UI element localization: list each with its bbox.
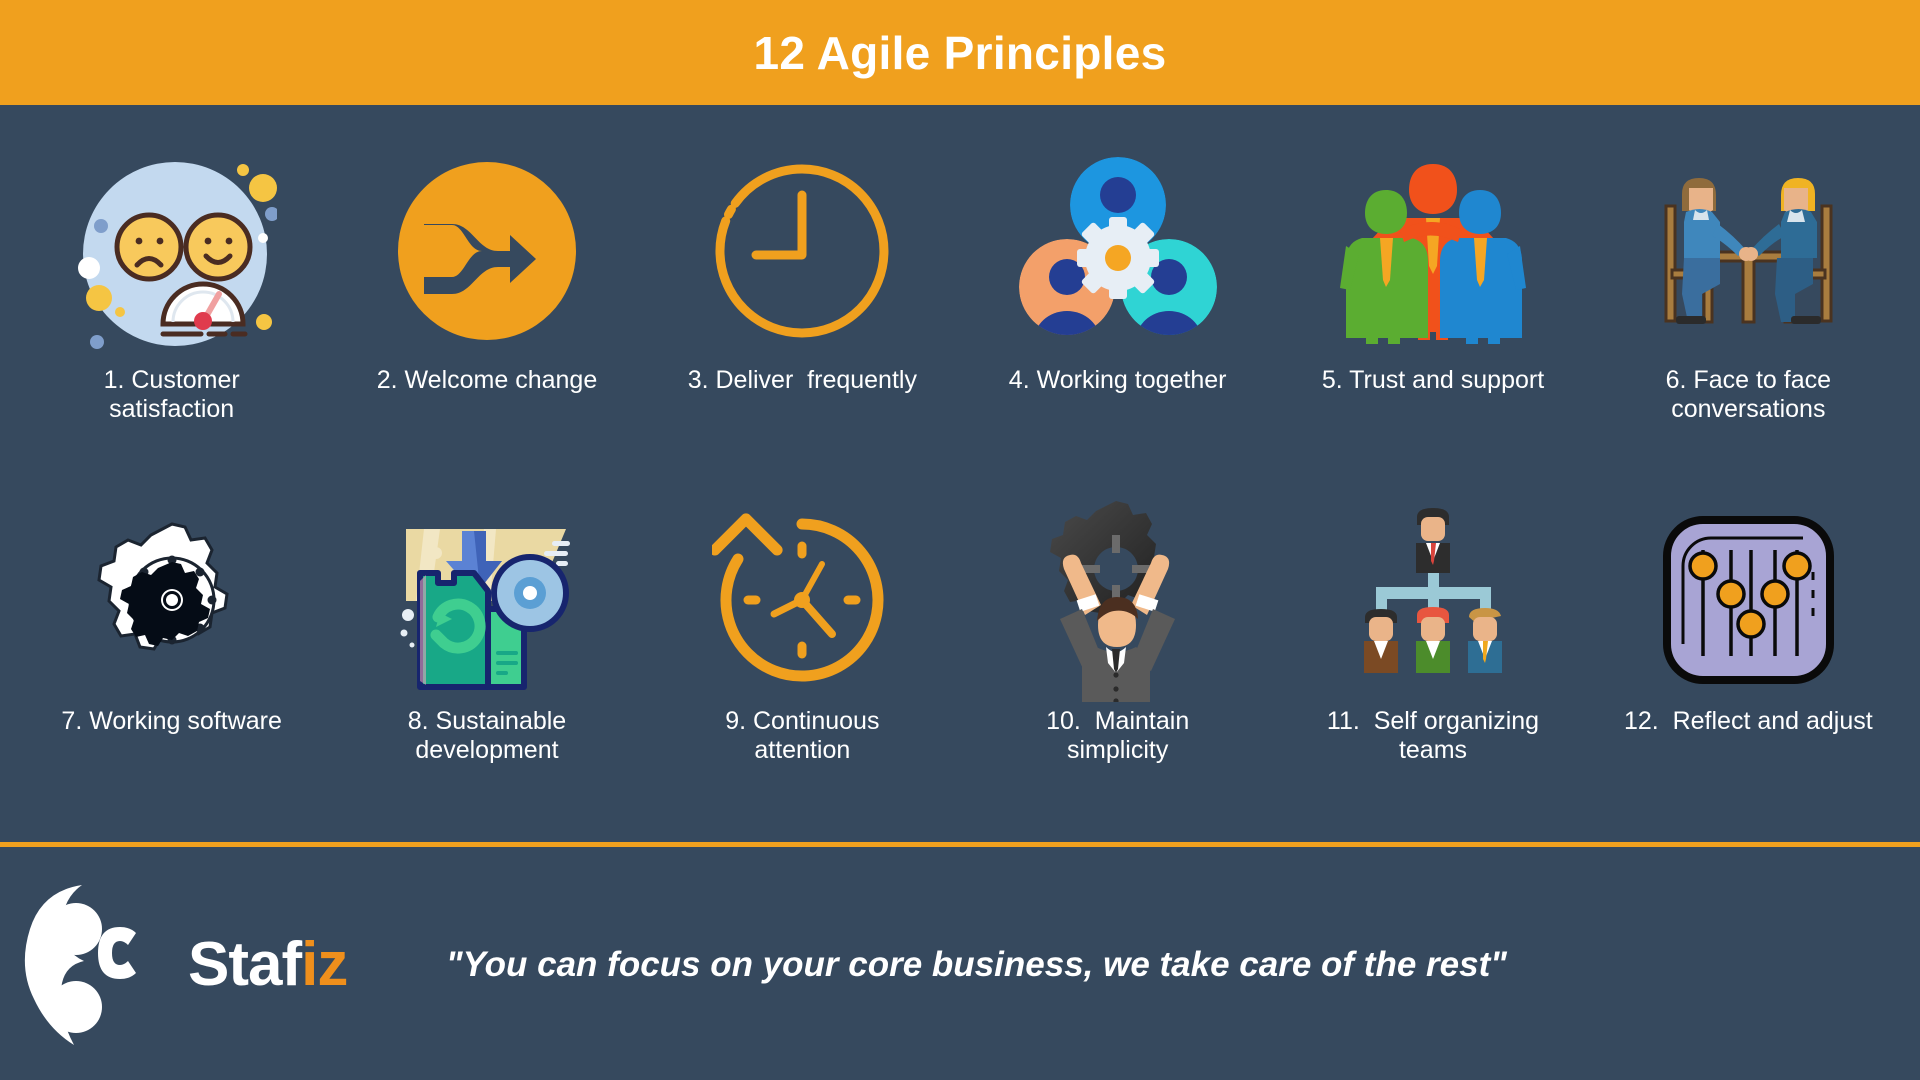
principle-item-11[interactable]: 11. Self organizing teams xyxy=(1275,482,1590,838)
three-people-arms-linked-icon xyxy=(1275,136,1590,366)
logo-text-orange: iz xyxy=(301,930,347,999)
principle-item-6[interactable]: 6. Face to face conversations xyxy=(1591,126,1906,482)
principle-label: 8. Sustainable development xyxy=(408,707,566,765)
man-lifting-gear-icon xyxy=(960,492,1275,707)
principle-label: 4. Working together xyxy=(1009,366,1227,395)
principle-label: 3. Deliver frequently xyxy=(688,366,917,395)
principle-label: 10. Maintain simplicity xyxy=(993,707,1243,765)
principle-label: 2. Welcome change xyxy=(377,366,598,395)
clock-outline-icon xyxy=(645,136,960,366)
principle-item-8[interactable]: 8. Sustainable development xyxy=(329,482,644,838)
principle-label: 7. Working software xyxy=(61,707,281,736)
shuffle-arrows-circle-icon xyxy=(329,136,644,366)
footer-bar: Stafiz "You can focus on your core busin… xyxy=(0,847,1920,1080)
principle-label: 6. Face to face conversations xyxy=(1623,366,1873,424)
two-people-at-table-icon xyxy=(1591,136,1906,366)
principles-grid: 1. Customer satisfaction 2. Welcome chan… xyxy=(0,108,1920,838)
principle-item-3[interactable]: 3. Deliver frequently xyxy=(645,126,960,482)
principle-item-1[interactable]: 1. Customer satisfaction xyxy=(14,126,329,482)
principle-item-5[interactable]: 5. Trust and support xyxy=(1275,126,1590,482)
principle-label: 9. Continuous attention xyxy=(725,707,879,765)
white-gear-icon xyxy=(14,492,329,707)
page-title: 12 Agile Principles xyxy=(753,26,1166,80)
clock-refresh-icon xyxy=(645,492,960,707)
sliders-panel-icon xyxy=(1591,492,1906,707)
logo-text-white: Staf xyxy=(188,930,301,999)
principle-label: 1. Customer satisfaction xyxy=(47,366,297,424)
software-download-box-icon xyxy=(329,492,644,707)
principle-label: 5. Trust and support xyxy=(1322,366,1544,395)
stafiz-wordmark: Stafiz xyxy=(188,929,347,1000)
org-chart-people-icon xyxy=(1275,492,1590,707)
principle-label: 12. Reflect and adjust xyxy=(1624,707,1873,736)
stafiz-logo[interactable]: Stafiz xyxy=(16,875,446,1055)
principle-item-12[interactable]: 12. Reflect and adjust xyxy=(1591,482,1906,838)
principle-item-9[interactable]: 9. Continuous attention xyxy=(645,482,960,838)
principle-item-4[interactable]: 4. Working together xyxy=(960,126,1275,482)
principle-label: 11. Self organizing teams xyxy=(1327,707,1539,765)
principles-row-1: 1. Customer satisfaction 2. Welcome chan… xyxy=(14,126,1906,482)
customer-satisfaction-gauge-icon xyxy=(14,136,329,366)
principle-item-10[interactable]: 10. Maintain simplicity xyxy=(960,482,1275,838)
principles-row-2: 7. Working software xyxy=(14,482,1906,838)
stafiz-logo-mark xyxy=(16,875,186,1055)
principle-item-7[interactable]: 7. Working software xyxy=(14,482,329,838)
header-banner: 12 Agile Principles xyxy=(0,0,1920,108)
three-users-gear-icon xyxy=(960,136,1275,366)
tagline: "You can focus on your core business, we… xyxy=(446,945,1507,985)
principle-item-2[interactable]: 2. Welcome change xyxy=(329,126,644,482)
